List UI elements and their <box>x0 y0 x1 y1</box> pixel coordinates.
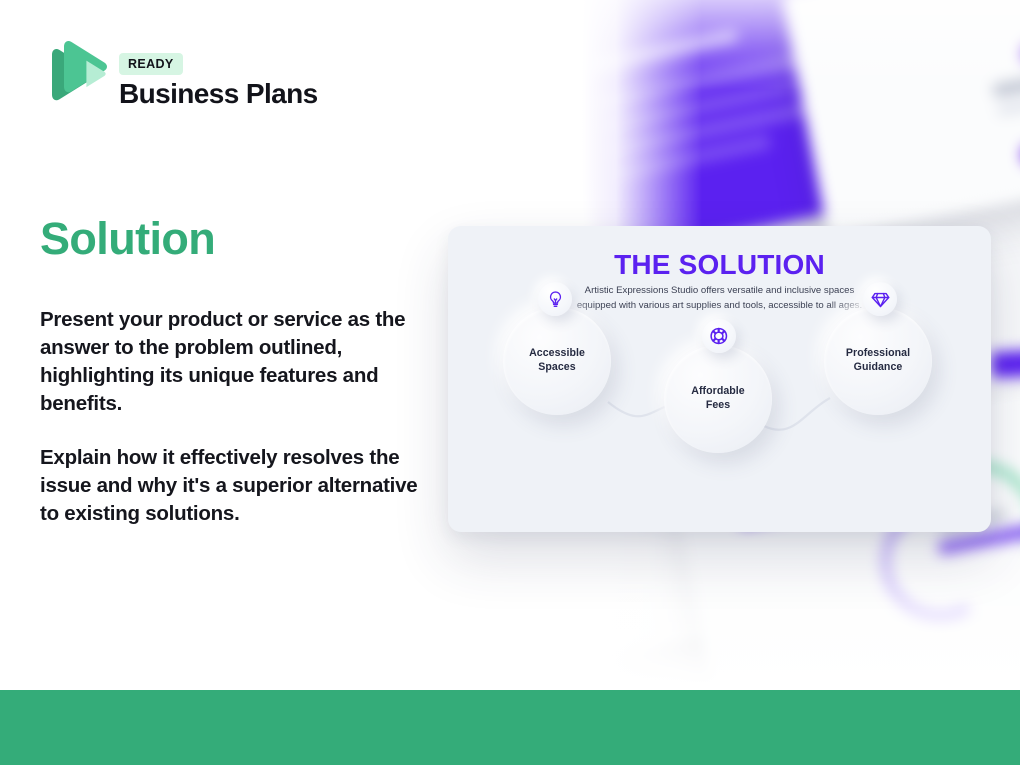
page-title: Solution <box>40 213 215 265</box>
slide-canvas: THE SOLUTION Artistic Expressions Studio… <box>0 0 1020 765</box>
body-paragraph-1: Present your product or service as the a… <box>40 306 438 418</box>
solution-preview-card[interactable]: THE SOLUTION Artistic Expressions Studio… <box>448 226 991 532</box>
node-label-line2: Spaces <box>538 361 575 373</box>
ready-badge: READY <box>119 53 183 75</box>
double-play-triangle-logo-icon <box>40 38 110 116</box>
node-bubble[interactable]: Affordable Fees <box>664 345 772 453</box>
node-bubble[interactable]: Accessible Spaces <box>503 307 611 415</box>
lightbulb-icon <box>538 282 572 316</box>
node-label: Affordable Fees <box>691 385 744 412</box>
node-label: Accessible Spaces <box>529 347 585 374</box>
node-label-line2: Guidance <box>854 361 903 373</box>
node-label-line1: Professional <box>846 347 910 359</box>
brand-name: Business Plans <box>119 78 318 110</box>
footer-green-bar <box>0 690 1020 765</box>
body-paragraph-2: Explain how it effectively resolves the … <box>40 444 438 528</box>
node-label-line1: Affordable <box>691 385 744 397</box>
node-label: Professional Guidance <box>846 347 910 374</box>
lifebuoy-icon <box>702 319 736 353</box>
node-bubble[interactable]: Professional Guidance <box>824 307 932 415</box>
node-label-line2: Fees <box>706 399 730 411</box>
diamond-icon <box>863 282 897 316</box>
node-label-line1: Accessible <box>529 347 585 359</box>
brand-logo-block[interactable]: READY Business Plans <box>40 38 370 120</box>
